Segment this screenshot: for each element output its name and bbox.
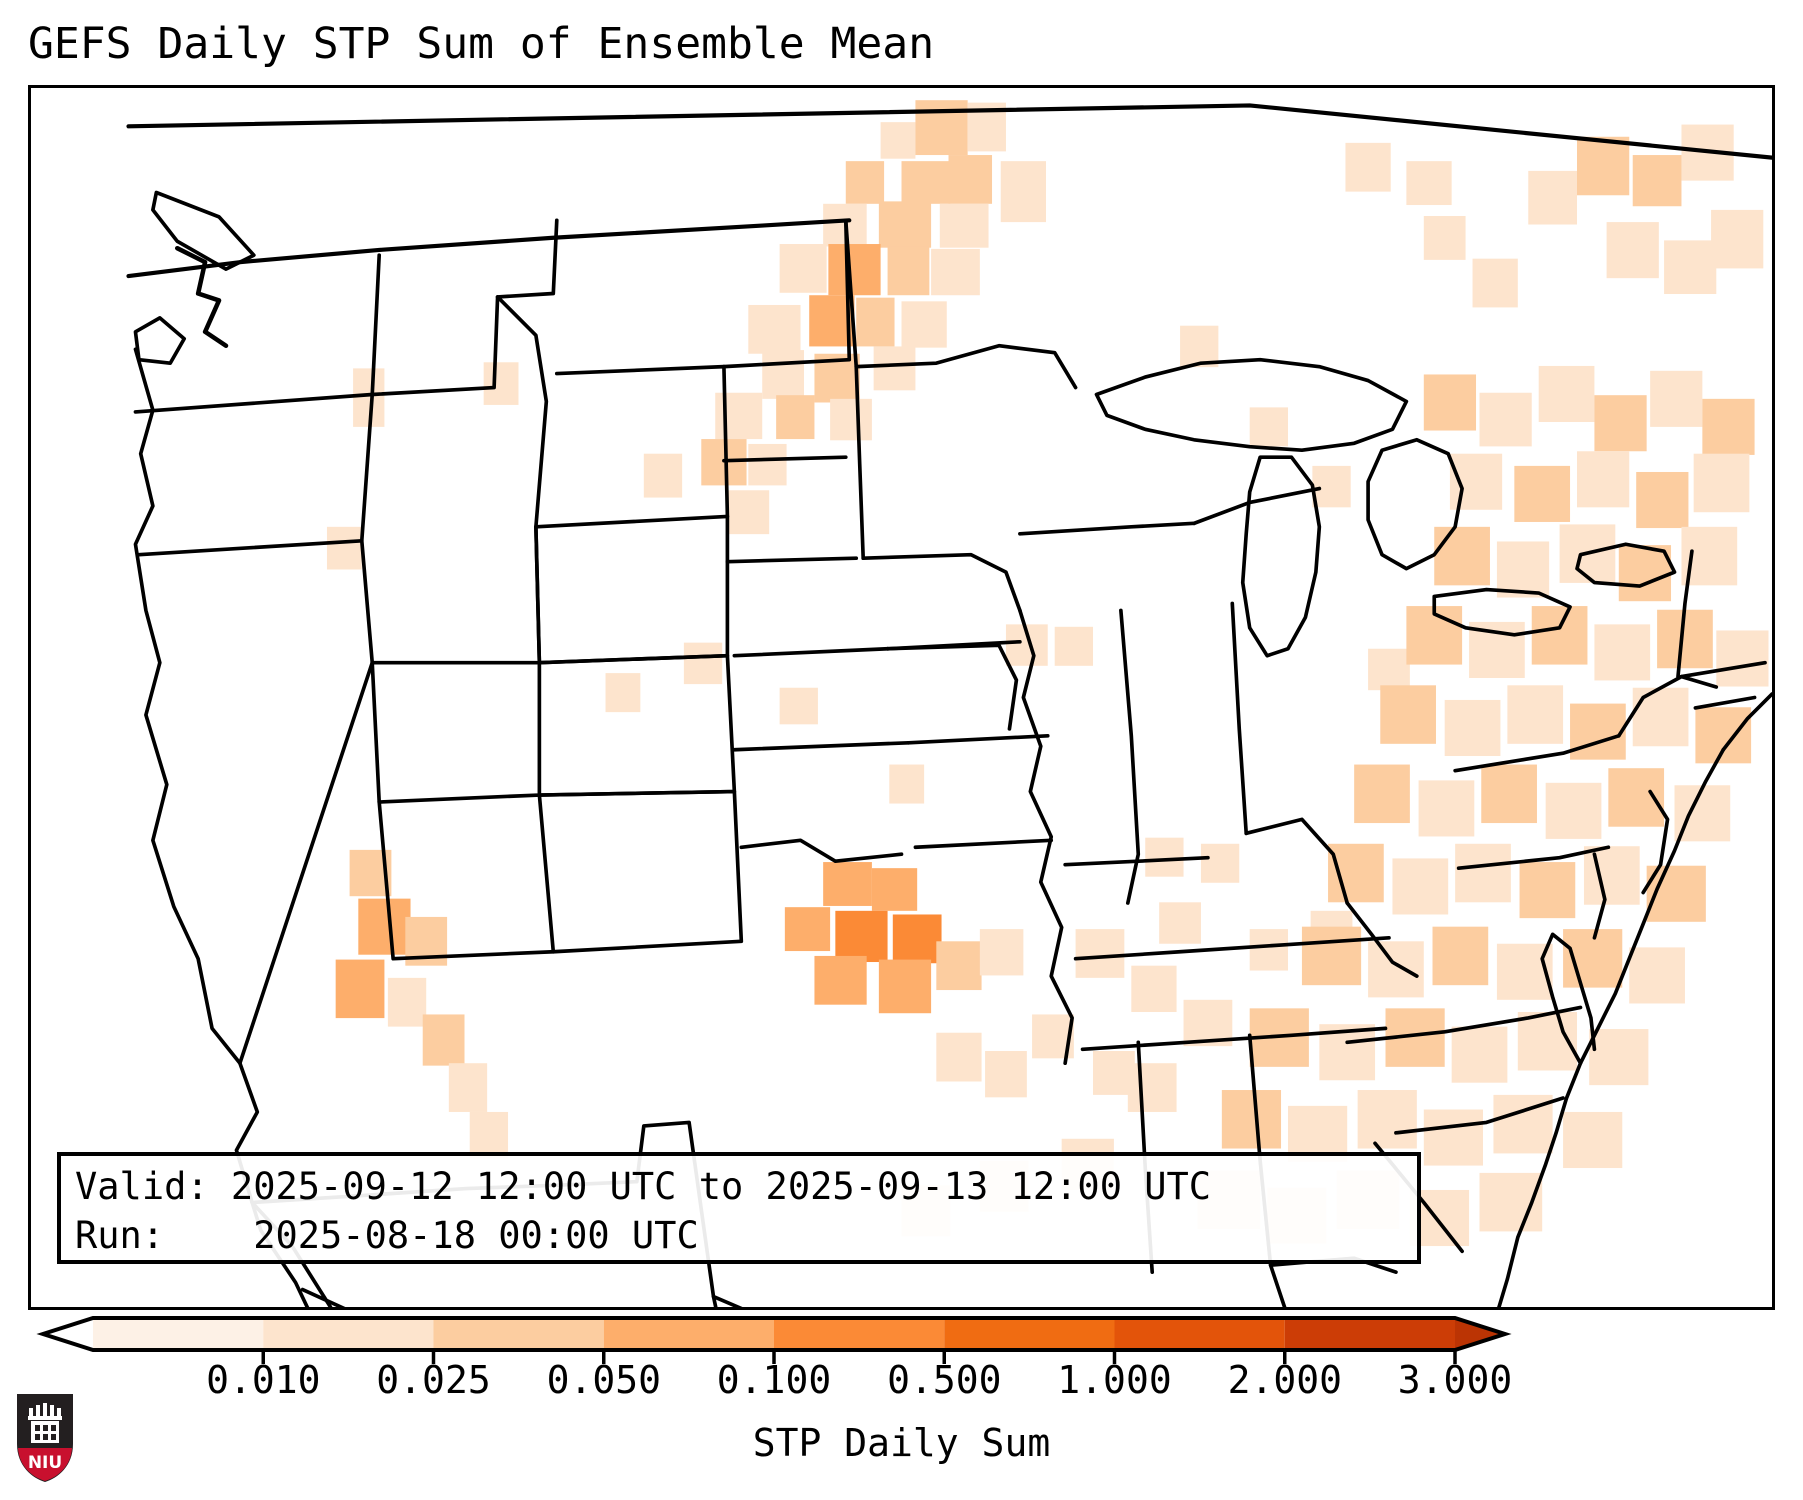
heatmap-cell [1222,1090,1281,1149]
heatmap-cell [940,204,989,248]
heatmap-cell [879,960,931,1014]
map-canvas [31,88,1772,1307]
run-time-line: Run: 2025-08-18 00:00 UTC [75,1211,1403,1260]
state-in-oh [1232,603,1246,833]
heatmap-cell [388,978,426,1027]
heatmap-cell [1312,466,1350,507]
heatmap-cell [1473,259,1518,308]
heatmap-cell [1539,366,1595,422]
heatmap-cell [1424,374,1476,430]
colorbar-tick-label: 3.000 [1398,1358,1512,1402]
heatmap-cell [1055,627,1093,666]
colorbar-segment [1115,1318,1285,1350]
state-wy-co [536,516,728,662]
state-wi-il [1020,523,1194,533]
heatmap-cell [748,305,800,354]
heatmap-cell [872,868,917,911]
heatmap-cell [1368,649,1410,690]
mexico-gulf-coast [651,1297,902,1307]
heatmap-cell [727,490,769,534]
niu-logo-text: NIU [28,1453,62,1473]
heatmap-cell [1455,844,1511,903]
vancouver-island [153,192,254,269]
state-ct-ri [1695,698,1754,708]
page-title: GEFS Daily STP Sum of Ensemble Mean [28,16,1528,72]
heatmap-cell [336,960,385,1019]
heatmap-cell [1636,472,1688,528]
heatmap-cell [1480,393,1532,447]
colorbar-segment [434,1318,604,1350]
heatmap-cell [1528,171,1577,225]
colorbar-segment [263,1318,433,1350]
heatmap-cell [1433,927,1489,986]
heatmap-cell [1695,707,1751,763]
map-panel [28,85,1775,1310]
heatmap-cell [776,395,814,439]
state-ok-tx [741,840,901,861]
colorbar-segment [1285,1318,1455,1350]
colorbar-segment [604,1318,774,1350]
heatmap-cell [1507,685,1563,744]
heatmap-cell [915,100,967,155]
heatmap-cell [1128,1063,1177,1112]
heatmap-cell [1424,1110,1483,1166]
heatmap-cell [980,929,1024,975]
heatmap-cell [1594,395,1646,451]
heatmap-cell [1532,606,1588,665]
heatmap-cell [1589,1029,1648,1085]
state-sd-ne [727,558,856,561]
heatmap-cell [606,673,641,712]
weather-map-figure: GEFS Daily STP Sum of Ensemble Mean [0,0,1803,1500]
heatmap-cell [874,346,916,390]
state-ia-border [863,555,1020,611]
heatmap-cell [902,161,951,204]
colorbar-tick-labels: 0.0100.0250.0500.1000.5001.0002.0003.000 [0,1358,1803,1406]
heatmap-cell [889,765,924,804]
heatmap-cell [1563,1112,1622,1168]
heatmap-cell [936,941,981,990]
heatmap-cell [902,301,947,347]
heatmap-cell [715,393,762,439]
state-ne-ks [734,649,887,656]
lake-michigan [1243,457,1320,656]
heatmap-cell [1201,844,1239,883]
heatmap-cell [748,444,786,485]
heatmap-cell [1633,155,1682,206]
heatmap-cell [423,1014,465,1065]
state-ut-az [372,663,539,802]
colorbar-axis-label: STP Daily Sum [0,1420,1803,1466]
heatmap-cell [1354,765,1410,824]
state-ar-la [915,840,1051,847]
heatmap-cell [1546,783,1602,839]
heatmap-cell [1406,161,1451,205]
heatmap-cell [762,350,804,399]
heatmap-cell [1001,161,1046,222]
heatmap-cell [780,244,827,293]
heatmap-cell [856,298,894,347]
state-il-in [1121,610,1138,903]
colorbar-tick-label: 1.000 [1057,1358,1171,1402]
heatmap-cell [1131,966,1176,1012]
heatmap-cell [1328,844,1384,903]
colorbar-extend-min [43,1318,93,1350]
heatmap-cell [684,643,722,684]
state-id-mt [498,297,547,527]
heatmap-layer [327,100,1769,1246]
state-mt-wy [536,367,728,527]
heatmap-cell [823,862,872,906]
heatmap-cell [1302,927,1361,986]
colorbar-segment [944,1318,1114,1350]
border-49th [128,220,849,276]
heatmap-cell [1607,222,1659,278]
heatmap-cell [881,122,916,159]
colorbar-segment [93,1318,263,1350]
colorbar-tick-label: 0.025 [376,1358,490,1402]
state-borders-west [135,255,379,412]
heatmap-cell [828,244,880,295]
heatmap-cell [1584,846,1640,905]
info-box: Valid: 2025-09-12 12:00 UTC to 2025-09-1… [57,1152,1421,1264]
niu-logo: NIU [14,1392,76,1484]
heatmap-cell [1716,630,1768,686]
heatmap-cell [484,362,519,405]
heatmap-cell [1424,216,1466,260]
state-mississippi-river [1020,610,1072,1063]
heatmap-cell [1250,929,1288,970]
heatmap-cell [1419,780,1475,836]
heatmap-cell [1159,902,1201,943]
heatmap-cell [780,688,818,725]
heatmap-cell [1629,947,1685,1003]
colorbar-tick-label: 2.000 [1228,1358,1342,1402]
heatmap-cell [1345,143,1390,192]
heatmap-cell [1514,466,1570,522]
heatmap-cell [1694,454,1750,513]
state-mi-up [1194,489,1319,524]
colorbar-segments [43,1318,1505,1350]
valid-time-line: Valid: 2025-09-12 12:00 UTC to 2025-09-1… [75,1162,1403,1211]
state-nv-ut [372,527,539,663]
heatmap-cell [936,1033,981,1082]
heatmap-cell [1392,858,1448,914]
heatmap-cell [1570,704,1626,760]
heatmap-cell [1250,407,1288,446]
colorbar-tick-label: 0.050 [547,1358,661,1402]
heatmap-cell [1481,765,1537,824]
heatmap-cell [888,246,930,295]
heatmap-cell [785,907,830,951]
heatmap-cell [1664,240,1716,294]
heatmap-cell [846,161,884,204]
heatmap-cell [1445,700,1501,756]
heatmap-cell [1633,688,1689,747]
heatmap-cell [830,399,872,440]
heatmap-cell [949,155,993,204]
heatmap-cell [1594,624,1650,680]
heatmap-cell [879,201,931,247]
state-mo-border [888,645,1017,729]
state-mo-ar [908,736,1047,743]
heatmap-cell [1380,685,1436,744]
state-ks-ok [734,743,908,750]
colorbar-extend-max [1455,1318,1505,1350]
heatmap-cell [1520,862,1576,918]
heatmap-cell [1358,1090,1417,1149]
heatmap-cell [1145,838,1183,877]
heatmap-cell [1711,210,1763,269]
mexico-west-coast [303,1290,651,1307]
colorbar-tick-label: 0.100 [717,1358,831,1402]
colorbar-tick-label: 0.010 [206,1358,320,1402]
heatmap-cell [449,1063,487,1112]
heatmap-cell [1434,527,1490,586]
heatmap-cell [1650,371,1702,427]
heatmap-cell [358,899,410,955]
west-coast [135,349,257,1202]
heatmap-cell [1702,399,1754,455]
heatmap-cell [1577,451,1629,507]
colorbar-segment [774,1318,944,1350]
heatmap-cell [893,914,942,963]
heatmap-cell [644,454,682,498]
heatmap-cell [1452,1027,1508,1083]
heatmap-cell [1368,941,1424,997]
heatmap-cell [1076,929,1125,978]
colorbar-tick-label: 0.500 [887,1358,1001,1402]
state-nm [539,792,741,952]
heatmap-cell [814,956,866,1005]
niu-logo-svg: NIU [14,1392,76,1484]
heatmap-cell [931,249,980,295]
heatmap-cell [327,527,362,570]
heatmap-cell [835,911,887,962]
heatmap-cell [1577,137,1629,196]
olympic-peninsula [135,318,184,363]
heatmap-cell [985,1051,1027,1097]
